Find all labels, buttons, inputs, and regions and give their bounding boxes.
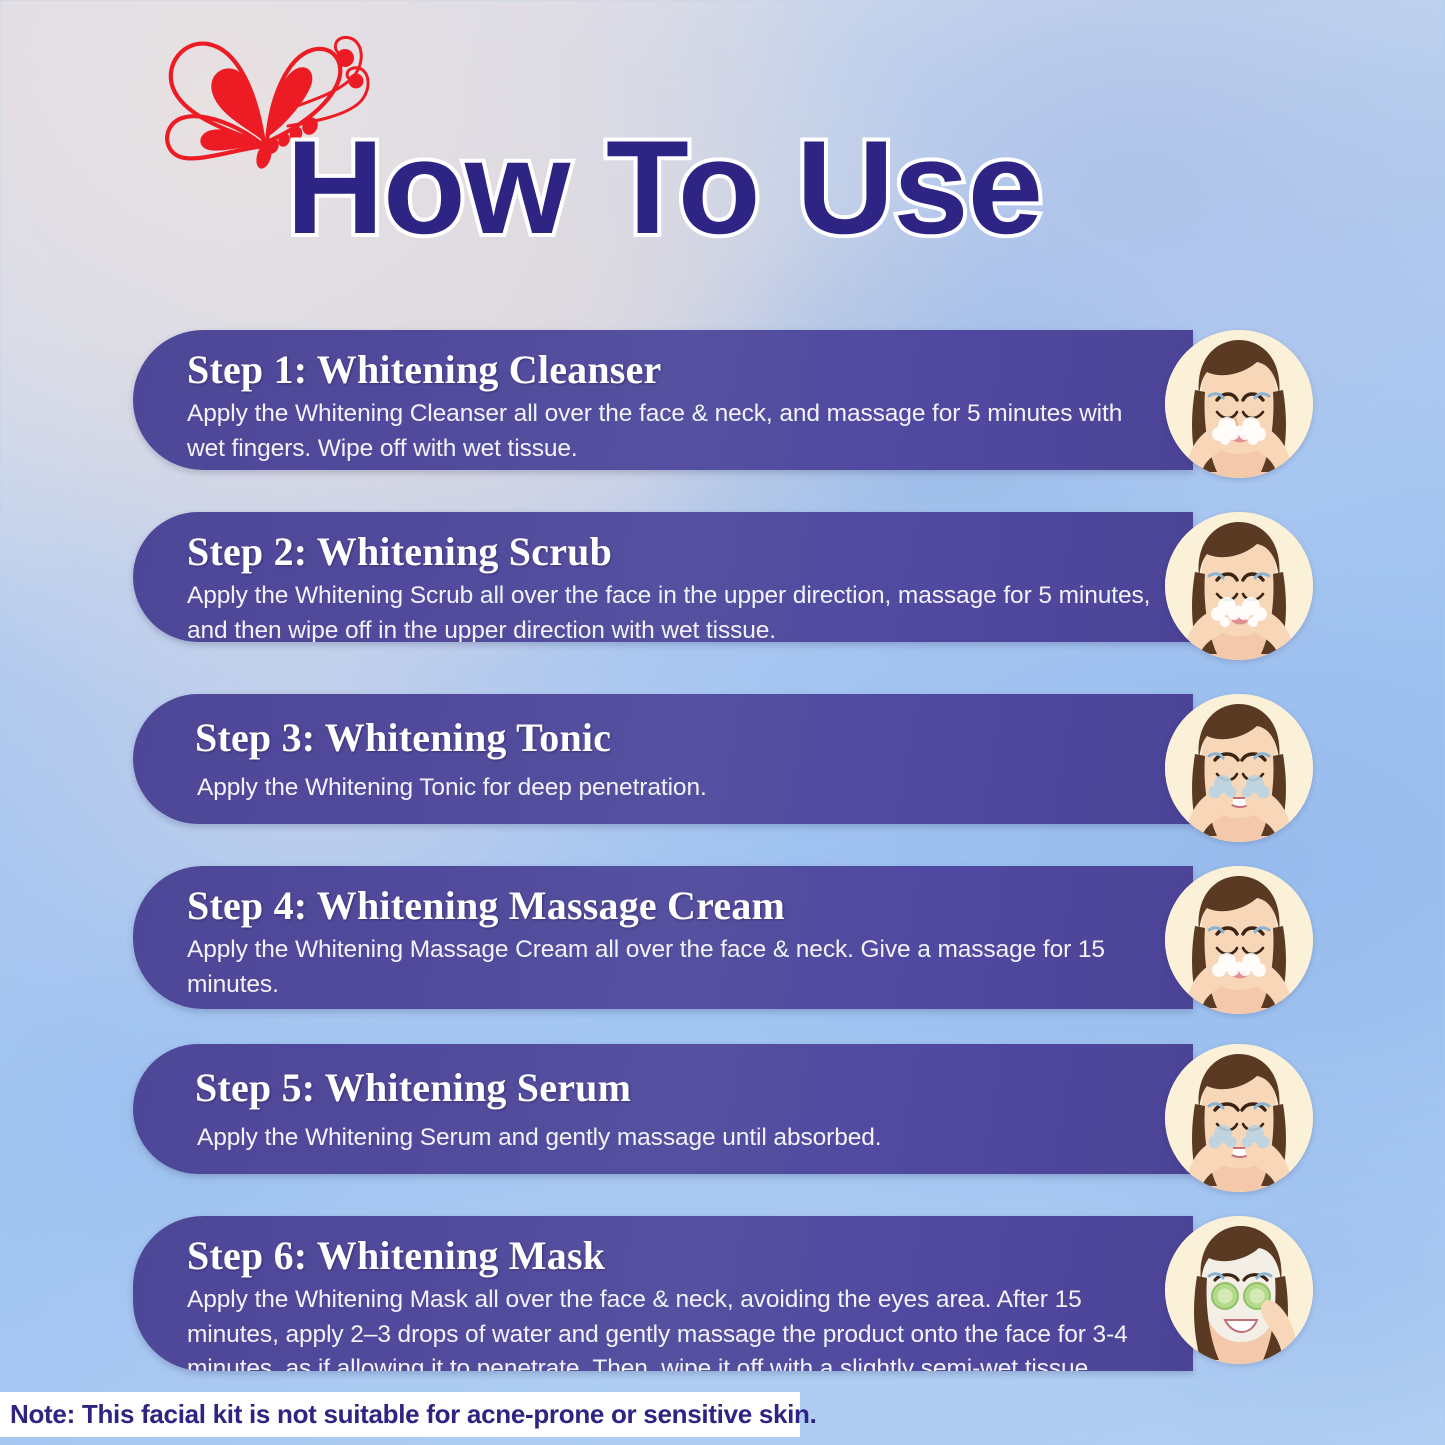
footer-note-text: Note: This facial kit is not suitable fo… [0, 1399, 817, 1430]
step-heading: Step 5: Whitening Serum [187, 1066, 1159, 1111]
woman-washing-face-icon [1165, 330, 1313, 478]
woman-applying-serum-icon [1165, 1044, 1313, 1192]
step-body: Apply the Whitening Serum and gently mas… [187, 1121, 1159, 1156]
woman-applying-tonic-icon [1165, 694, 1313, 842]
step-bar: Step 5: Whitening Serum Apply the Whiten… [133, 1044, 1193, 1174]
step-heading: Step 2: Whitening Scrub [187, 530, 1159, 575]
step-bar: Step 2: Whitening Scrub Apply the Whiten… [133, 512, 1193, 642]
step-bar: Step 6: Whitening Mask Apply the Whiteni… [133, 1216, 1193, 1371]
step-body: Apply the Whitening Tonic for deep penet… [187, 771, 1159, 806]
footer-note-banner: Note: This facial kit is not suitable fo… [0, 1392, 800, 1437]
step-heading: Step 4: Whitening Massage Cream [187, 884, 1159, 929]
page-title: How To Use [286, 122, 1042, 255]
poster-page: How To Use Step 1: Whitening Cleanser Ap… [0, 0, 1445, 1445]
step-bar: Step 3: Whitening Tonic Apply the Whiten… [133, 694, 1193, 824]
step-body: Apply the Whitening Cleanser all over th… [187, 397, 1159, 467]
step-body: Apply the Whitening Massage Cream all ov… [187, 933, 1159, 1003]
step-heading: Step 3: Whitening Tonic [187, 716, 1159, 761]
step-bar: Step 4: Whitening Massage Cream Apply th… [133, 866, 1193, 1009]
step-body: Apply the Whitening Mask all over the fa… [187, 1283, 1159, 1371]
step-bar: Step 1: Whitening Cleanser Apply the Whi… [133, 330, 1193, 470]
step-heading: Step 1: Whitening Cleanser [187, 348, 1159, 393]
woman-face-mask-cucumber-icon [1165, 1216, 1313, 1364]
header: How To Use [0, 0, 1445, 300]
step-heading: Step 6: Whitening Mask [187, 1234, 1159, 1279]
step-body: Apply the Whitening Scrub all over the f… [187, 579, 1159, 642]
woman-massaging-face-icon [1165, 866, 1313, 1014]
woman-scrubbing-face-icon [1165, 512, 1313, 660]
